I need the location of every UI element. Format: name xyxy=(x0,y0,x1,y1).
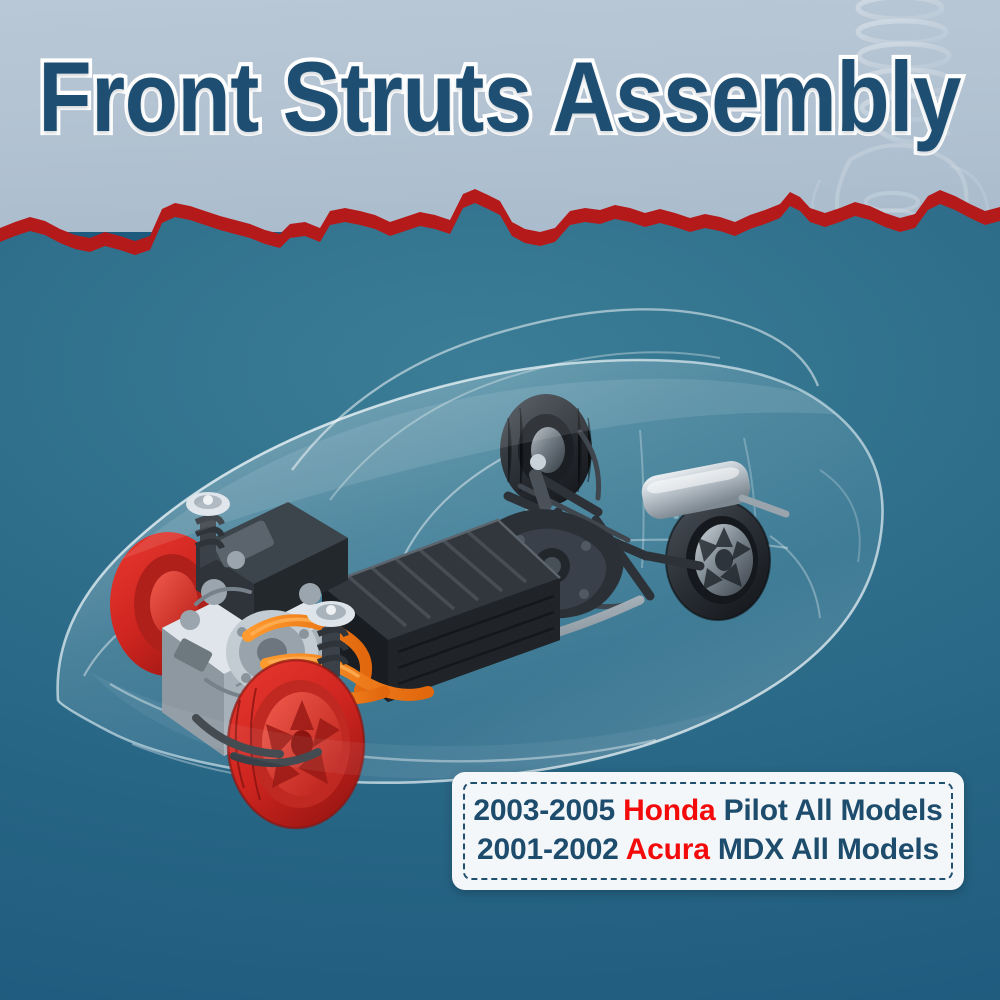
fitment-line-1: 2003-2005 Honda Pilot All Models xyxy=(473,793,942,830)
fitment-line-1-years: 2003-2005 xyxy=(473,794,615,827)
fitment-line-2: 2001-2002 Acura MDX All Models xyxy=(477,832,939,869)
strut-coil-spring-ghost-icon xyxy=(780,0,1000,232)
fitment-box: 2003-2005 Honda Pilot All Models 2001-20… xyxy=(452,772,964,890)
fitment-inner-border: 2003-2005 Honda Pilot All Models 2001-20… xyxy=(463,782,953,880)
fitment-line-2-model: MDX All Models xyxy=(718,833,939,866)
fitment-line-2-years: 2001-2002 xyxy=(477,833,619,866)
product-banner: Front Struts Assembly xyxy=(0,0,1000,1000)
fitment-line-1-brand: Honda xyxy=(623,794,715,827)
fitment-line-2-brand: Acura xyxy=(626,833,710,866)
fitment-line-1-model: Pilot All Models xyxy=(724,794,943,827)
header-band xyxy=(0,0,1000,232)
